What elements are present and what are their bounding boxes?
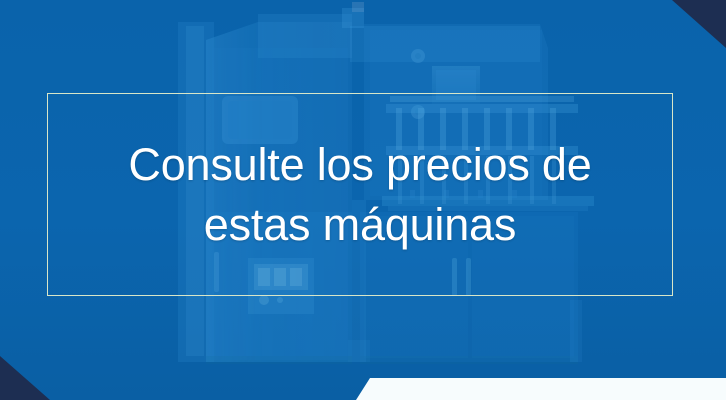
headline-block: Consulte los precios de estas máquinas [47, 93, 673, 296]
headline-line-1: Consulte los precios de [128, 135, 591, 194]
headline-line-2: estas máquinas [204, 195, 516, 254]
promo-banner: Consulte los precios de estas máquinas [0, 0, 726, 400]
corner-accent-top-right [672, 0, 726, 48]
corner-accent-bottom-left [0, 356, 50, 400]
